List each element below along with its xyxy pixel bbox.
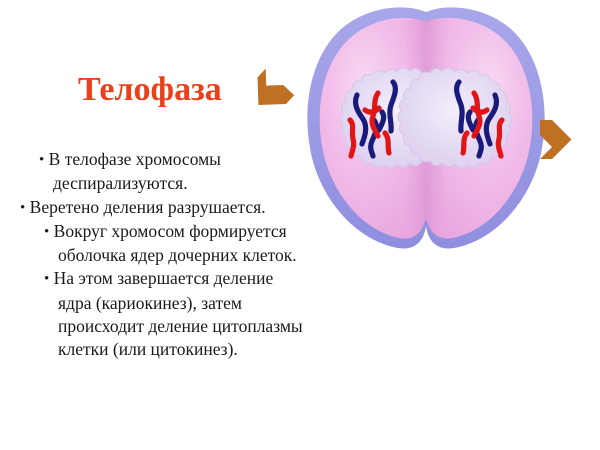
page-title: Телофаза: [78, 70, 278, 110]
list-item: • На этом завершается деление ядра (кари…: [6, 267, 326, 361]
chromosome-red: [350, 120, 354, 156]
list-item-text: На этом завершается деление ядра (кариок…: [54, 268, 303, 359]
list-item-text: Веретено деления разрушается.: [30, 197, 266, 217]
chromosome-red: [498, 120, 502, 156]
bullet-icon: •: [44, 271, 49, 287]
list-item-text: Вокруг хромосом формируется оболочка яде…: [54, 221, 297, 265]
right-nucleus: [398, 68, 512, 169]
bullet-list: • В телофазе хромосомы деспирализуются. …: [6, 148, 326, 362]
bullet-icon: •: [20, 200, 25, 216]
list-item-text: В телофазе хромосомы деспирализуются.: [49, 149, 221, 193]
right-arrow-icon: [540, 120, 572, 159]
bullet-icon: •: [39, 152, 44, 168]
slide-canvas: Телофаза • В телофазе хромосомы деспирал…: [0, 0, 600, 450]
list-item: • Вокруг хромосом формируется оболочка я…: [6, 220, 326, 268]
bullet-icon: •: [44, 224, 49, 240]
nuclear-envelope: [398, 68, 512, 169]
list-item: • В телофазе хромосомы деспирализуются.: [6, 148, 326, 196]
list-item: • Веретено деления разрушается.: [6, 196, 326, 220]
